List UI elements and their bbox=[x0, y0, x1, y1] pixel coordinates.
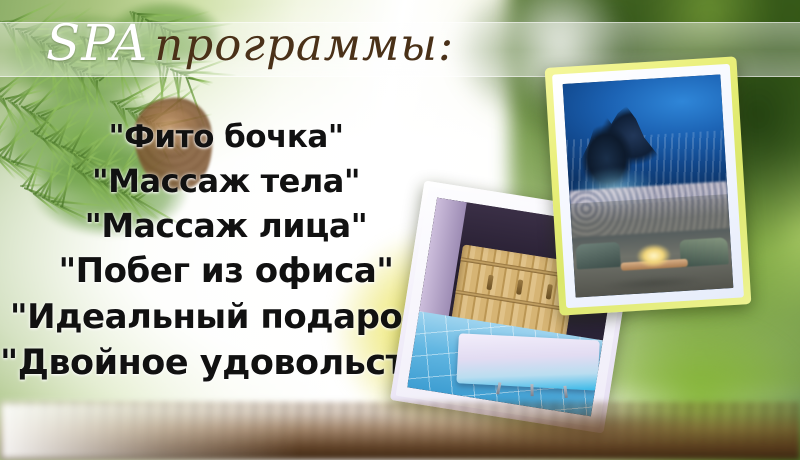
wood-fade-overlay bbox=[0, 402, 300, 460]
page-title: SPAпрограммы: bbox=[46, 18, 454, 68]
poster-canvas: SPAпрограммы: "Фито бочка" "Массаж тела"… bbox=[0, 0, 800, 460]
program-item-0: "Фито бочка" bbox=[0, 122, 452, 153]
photo-seascape-spa-interior bbox=[545, 56, 752, 315]
program-item-5: "Двойное удовольствие" bbox=[0, 346, 452, 381]
program-item-1: "Массаж тела" bbox=[0, 165, 452, 197]
title-spa-word: SPA bbox=[46, 14, 154, 72]
program-list: "Фито бочка" "Массаж тела" "Массаж лица"… bbox=[0, 122, 452, 393]
program-item-4: "Идеальный подарок" bbox=[0, 300, 452, 334]
barrel-latch bbox=[487, 275, 494, 290]
barrel-latch bbox=[516, 279, 523, 294]
barrel-hoop bbox=[456, 290, 571, 312]
massage-table bbox=[456, 333, 600, 390]
spa-bench-left bbox=[576, 242, 622, 269]
program-item-2: "Массаж лица" bbox=[0, 209, 452, 242]
barrel-latch bbox=[546, 284, 553, 299]
title-programs-word: программы: bbox=[154, 18, 454, 71]
spa-lamp-glow bbox=[632, 241, 675, 272]
photo-image-seascape bbox=[563, 74, 734, 297]
spa-interior bbox=[570, 194, 733, 298]
program-item-3: "Побег из офиса" bbox=[0, 254, 452, 288]
table-leg bbox=[530, 384, 533, 396]
